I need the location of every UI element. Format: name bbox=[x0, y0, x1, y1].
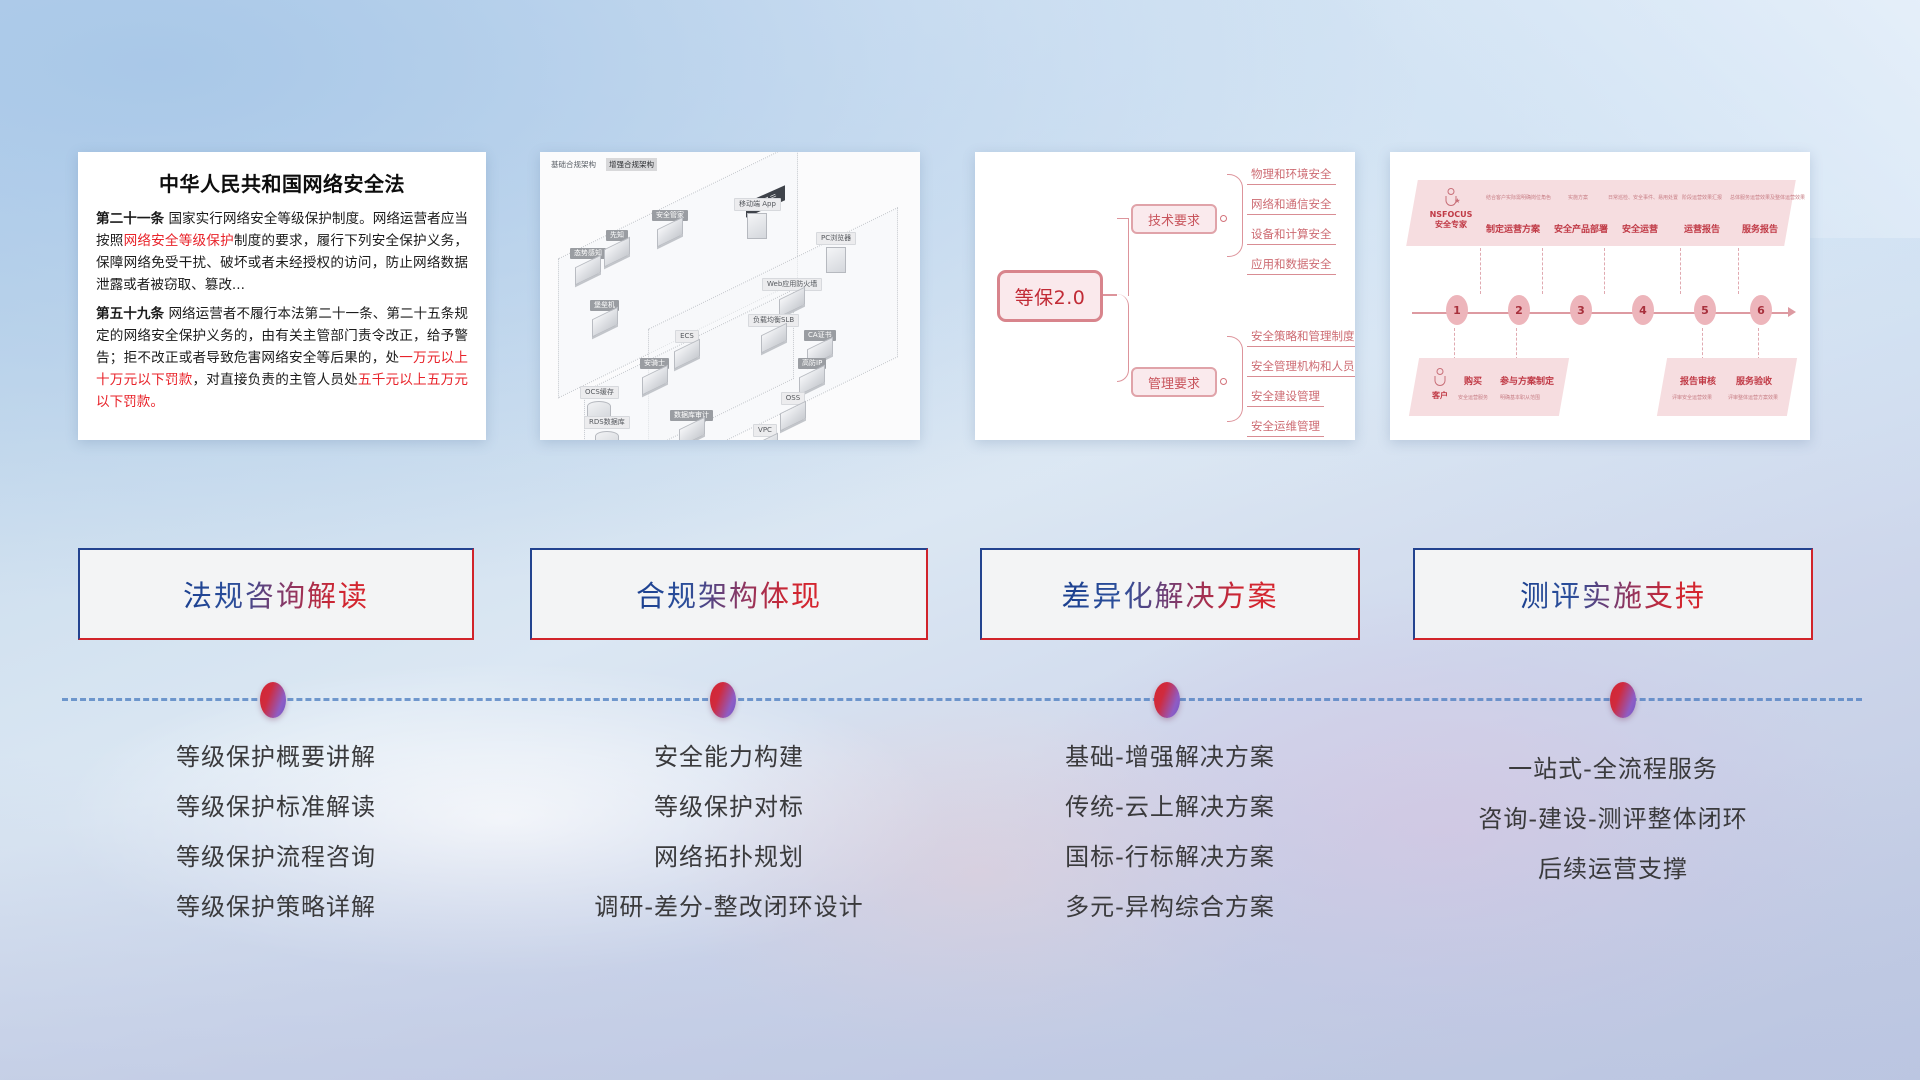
nsfocus-bottom2-caption: 明确基本职从范围 bbox=[1500, 394, 1540, 401]
node-label: RDS数据库 bbox=[584, 416, 630, 429]
nsfocus-bottom3-title: 报告审核 bbox=[1680, 374, 1716, 387]
mindmap-leaf-physical: 物理和环境安全 bbox=[1247, 166, 1336, 185]
list-item: 网络拓扑规划 bbox=[530, 845, 928, 869]
nsfocus-timeline-card: ★ NSFOCUS 安全专家 结合客户实际需明确岗位角色 制定运营方案 实施方案… bbox=[1390, 152, 1810, 440]
section-title-text-3: 差异化解决方案 bbox=[1061, 573, 1278, 615]
list-item: 等级保护流程咨询 bbox=[78, 845, 474, 869]
law-card-body: 中华人民共和国网络安全法 第二十一条 国家实行网络安全等级保护制度。网络运营者应… bbox=[78, 152, 486, 423]
nsfocus-expert-block: ★ NSFOCUS 安全专家 bbox=[1422, 188, 1480, 230]
nsfocus-diagram: ★ NSFOCUS 安全专家 结合客户实际需明确岗位角色 制定运营方案 实施方案… bbox=[1390, 152, 1810, 440]
architecture-card: 基础合规架构 增强合规架构 阿里云 态势感知 先知 bbox=[540, 152, 920, 440]
nsfocus-step4-title: 运营报告 bbox=[1684, 222, 1720, 235]
timeline-track bbox=[62, 698, 1862, 702]
mindmap-leaf-network: 网络和通信安全 bbox=[1247, 196, 1336, 215]
mindmap-root-stem bbox=[1103, 294, 1117, 296]
list-item: 咨询-建设-测评整体闭环 bbox=[1413, 807, 1813, 831]
person-body bbox=[1435, 376, 1446, 386]
server-icon bbox=[780, 401, 806, 432]
nsfocus-step3-title: 安全运营 bbox=[1622, 222, 1658, 235]
nsfocus-axis-node-1: 1 bbox=[1446, 295, 1468, 325]
architecture-canvas: 阿里云 态势感知 先知 安全管家 堡垒机 bbox=[548, 172, 912, 432]
nsfocus-axis-line bbox=[1412, 312, 1792, 314]
nsfocus-connector-1 bbox=[1480, 248, 1481, 294]
nsfocus-connector-4 bbox=[1680, 248, 1681, 294]
mindmap-branch-dot bbox=[1220, 215, 1227, 222]
list-item: 等级保护对标 bbox=[530, 795, 928, 819]
node-mobile-app: 移动端 App bbox=[734, 198, 781, 239]
device-icon bbox=[747, 213, 767, 239]
nsfocus-customer-role: 客户 bbox=[1422, 390, 1458, 401]
node-label: PC浏览器 bbox=[816, 232, 856, 245]
architecture-tabs: 基础合规架构 增强合规架构 bbox=[548, 158, 657, 171]
section-title-text-1: 法规咨询解读 bbox=[183, 573, 369, 615]
law-article-21-label: 第二十一条 bbox=[96, 211, 164, 227]
law-article-21: 第二十一条 国家实行网络安全等级保护制度。网络运营者应当按照网络安全等级保护制度… bbox=[96, 208, 468, 296]
nsfocus-expert-role: 安全专家 bbox=[1422, 220, 1480, 230]
nsfocus-axis-node-6: 6 bbox=[1750, 295, 1772, 325]
node-xianzhi: 先知 bbox=[604, 230, 630, 261]
nsfocus-customer-tray: 客户 购买 安全运营服务 参与方案制定 明确基本职从范围 bbox=[1409, 358, 1569, 416]
list-item: 安全能力构建 bbox=[530, 745, 928, 769]
nsfocus-bottom4-caption: 评审整体运营方案效果 bbox=[1728, 394, 1778, 401]
list-item: 国标-行标解决方案 bbox=[980, 845, 1360, 869]
nsfocus-review-tray: 报告审核 评审安全运营效果 服务验收 评审整体运营方案效果 bbox=[1657, 358, 1797, 416]
mindmap-connector-down bbox=[1117, 294, 1129, 382]
law-card-title: 中华人民共和国网络安全法 bbox=[96, 168, 468, 197]
section-title-box-3[interactable]: 差异化解决方案 bbox=[980, 548, 1360, 640]
nsfocus-bottom3-caption: 评审安全运营效果 bbox=[1672, 394, 1712, 401]
nsfocus-top-band: ★ NSFOCUS 安全专家 结合客户实际需明确岗位角色 制定运营方案 实施方案… bbox=[1406, 180, 1796, 246]
nsfocus-step1-caption: 结合客户实际需明确岗位角色 bbox=[1486, 194, 1551, 201]
list-item: 调研-差分-整改闭环设计 bbox=[530, 895, 928, 919]
list-item: 一站式-全流程服务 bbox=[1413, 757, 1813, 781]
nsfocus-connector-2 bbox=[1542, 248, 1543, 294]
node-anti-ddos-ip: 高防IP bbox=[798, 358, 826, 389]
section-title-text-2: 合规架构体现 bbox=[636, 573, 822, 615]
node-vpc: VPC bbox=[752, 424, 778, 440]
law-article-21-highlight: 网络安全等级保护 bbox=[124, 233, 234, 249]
section-title-box-1[interactable]: 法规咨询解读 bbox=[78, 548, 474, 640]
nsfocus-bottom1-title: 购买 bbox=[1464, 374, 1482, 387]
timeline-dashed-line bbox=[62, 698, 1862, 701]
expert-person-icon: ★ bbox=[1445, 188, 1458, 208]
mindmap-card: 等保2.0 技术要求 物理和环境安全 网络和通信安全 设备和计算安全 应用和数据… bbox=[975, 152, 1355, 440]
mindmap-leaf-build: 安全建设管理 bbox=[1247, 388, 1324, 407]
node-ca-certificate: CA证书 bbox=[804, 330, 836, 361]
mindmap-connector-up bbox=[1117, 218, 1129, 296]
nsfocus-step2-title: 安全产品部署 bbox=[1554, 222, 1608, 235]
node-rds-database: RDS数据库 bbox=[584, 416, 630, 440]
section-detail-columns: 等级保护概要讲解 等级保护标准解读 等级保护流程咨询 等级保护策略详解 安全能力… bbox=[0, 745, 1920, 975]
list-item: 基础-增强解决方案 bbox=[980, 745, 1360, 769]
node-bastion-host: 堡垒机 bbox=[590, 300, 619, 331]
person-head bbox=[1437, 368, 1444, 375]
nsfocus-connector-8 bbox=[1702, 328, 1703, 360]
mindmap-leaf-device: 设备和计算安全 bbox=[1247, 226, 1336, 245]
node-database-audit: 数据库审计 bbox=[670, 410, 713, 440]
customer-person-icon bbox=[1434, 368, 1447, 388]
timeline-marker-2[interactable] bbox=[710, 682, 736, 718]
nsfocus-step5-title: 服务报告 bbox=[1742, 222, 1778, 235]
mindmap-diagram: 等保2.0 技术要求 物理和环境安全 网络和通信安全 设备和计算安全 应用和数据… bbox=[975, 152, 1355, 440]
nsfocus-connector-9 bbox=[1758, 328, 1759, 360]
nsfocus-brand: NSFOCUS bbox=[1422, 210, 1480, 220]
law-article-59-label: 第五十九条 bbox=[96, 306, 164, 322]
nsfocus-review-tray-inner: 报告审核 评审安全运营效果 服务验收 评审整体运营方案效果 bbox=[1662, 358, 1792, 416]
section-title-box-4[interactable]: 测评实施支持 bbox=[1413, 548, 1813, 640]
node-label: Web应用防火墙 bbox=[762, 278, 822, 291]
timeline-marker-4[interactable] bbox=[1610, 682, 1636, 718]
mindmap-leaf-org: 安全管理机构和人员 bbox=[1247, 358, 1355, 377]
mindmap-leaf-policy: 安全策略和管理制度 bbox=[1247, 328, 1355, 347]
node-situational-awareness: 态势感知 bbox=[570, 248, 606, 279]
detail-column-2: 安全能力构建 等级保护对标 网络拓扑规划 调研-差分-整改闭环设计 bbox=[530, 745, 928, 945]
nsfocus-connector-5 bbox=[1738, 248, 1739, 294]
node-oss: OSS bbox=[780, 392, 806, 425]
list-item: 后续运营支撑 bbox=[1413, 857, 1813, 881]
nsfocus-step1-title: 制定运营方案 bbox=[1486, 222, 1540, 235]
list-item: 多元-异构综合方案 bbox=[980, 895, 1360, 919]
law-article-59-text-b: ，对直接负责的主管人员处 bbox=[193, 372, 358, 388]
nsfocus-top-band-inner: ★ NSFOCUS 安全专家 结合客户实际需明确岗位角色 制定运营方案 实施方案… bbox=[1412, 180, 1790, 246]
node-label: 移动端 App bbox=[734, 198, 781, 211]
mindmap-fan-technical bbox=[1227, 174, 1243, 257]
arrow-right-icon bbox=[1788, 307, 1796, 317]
mindmap-branch-management: 管理要求 bbox=[1131, 367, 1217, 397]
section-title-row: 法规咨询解读 合规架构体现 差异化解决方案 测评实施支持 bbox=[0, 548, 1920, 640]
node-ecs: ECS bbox=[674, 330, 700, 363]
mindmap-branch-technical: 技术要求 bbox=[1131, 204, 1217, 234]
nsfocus-customer-tray-inner: 客户 购买 安全运营服务 参与方案制定 明确基本职从范围 bbox=[1414, 358, 1564, 416]
node-label: OCS缓存 bbox=[580, 386, 619, 399]
node-slb: 负载均衡SLB bbox=[748, 314, 799, 347]
list-item: 等级保护策略详解 bbox=[78, 895, 474, 919]
tab-basic-architecture[interactable]: 基础合规架构 bbox=[548, 158, 599, 171]
detail-column-4: 一站式-全流程服务 咨询-建设-测评整体闭环 后续运营支撑 bbox=[1413, 745, 1813, 907]
nsfocus-axis-node-3: 3 bbox=[1570, 295, 1592, 325]
list-item: 等级保护概要讲解 bbox=[78, 745, 474, 769]
mindmap-leaf-application: 应用和数据安全 bbox=[1247, 256, 1336, 275]
detail-column-3: 基础-增强解决方案 传统-云上解决方案 国标-行标解决方案 多元-异构综合方案 bbox=[980, 745, 1360, 945]
mindmap-fan-management bbox=[1227, 336, 1243, 422]
node-waf: Web应用防火墙 bbox=[762, 278, 822, 311]
law-article-59: 第五十九条 网络运营者不履行本法第二十一条、第二十五条规定的网络安全保护义务的，… bbox=[96, 303, 468, 413]
mindmap-root-node: 等保2.0 bbox=[997, 270, 1103, 322]
nsfocus-axis-node-5: 5 bbox=[1694, 295, 1716, 325]
nsfocus-step2-caption: 实施方案 bbox=[1568, 194, 1588, 201]
tab-enhanced-architecture[interactable]: 增强合规架构 bbox=[606, 158, 657, 171]
mindmap-branch-dot bbox=[1220, 378, 1227, 385]
architecture-diagram: 基础合规架构 增强合规架构 阿里云 态势感知 先知 bbox=[540, 152, 920, 440]
nsfocus-connector-3 bbox=[1604, 248, 1605, 294]
node-anqishi: 安骑士 bbox=[640, 358, 669, 389]
nsfocus-step5-caption: 总体服务运营效果及整体运营效果 bbox=[1730, 194, 1805, 201]
law-card: 中华人民共和国网络安全法 第二十一条 国家实行网络安全等级保护制度。网络运营者应… bbox=[78, 152, 486, 440]
nsfocus-customer-block: 客户 bbox=[1422, 368, 1458, 401]
star-icon: ★ bbox=[1454, 197, 1460, 206]
nsfocus-bottom1-caption: 安全运营服务 bbox=[1458, 394, 1488, 401]
timeline-marker-1[interactable] bbox=[260, 682, 286, 718]
person-head bbox=[1448, 188, 1455, 195]
nsfocus-step4-caption: 阶段运营效果汇报 bbox=[1682, 194, 1722, 201]
database-icon bbox=[595, 431, 619, 440]
nsfocus-bottom4-title: 服务验收 bbox=[1736, 374, 1772, 387]
list-item: 等级保护标准解读 bbox=[78, 795, 474, 819]
nsfocus-axis-node-4: 4 bbox=[1632, 295, 1654, 325]
node-label: 负载均衡SLB bbox=[748, 314, 799, 327]
illustration-card-row: 中华人民共和国网络安全法 第二十一条 国家实行网络安全等级保护制度。网络运营者应… bbox=[0, 152, 1920, 442]
mindmap-leaf-ops: 安全运维管理 bbox=[1247, 418, 1324, 437]
timeline-marker-3[interactable] bbox=[1154, 682, 1180, 718]
node-security-steward: 安全管家 bbox=[652, 210, 688, 241]
nsfocus-connector-6 bbox=[1454, 328, 1455, 360]
device-icon bbox=[826, 247, 846, 273]
list-item: 传统-云上解决方案 bbox=[980, 795, 1360, 819]
nsfocus-axis-node-2: 2 bbox=[1508, 295, 1530, 325]
nsfocus-step3-caption: 日常巡检、安全事件、易用处置 bbox=[1608, 194, 1678, 201]
section-title-text-4: 测评实施支持 bbox=[1520, 573, 1706, 615]
detail-column-1: 等级保护概要讲解 等级保护标准解读 等级保护流程咨询 等级保护策略详解 bbox=[78, 745, 474, 945]
section-title-box-2[interactable]: 合规架构体现 bbox=[530, 548, 928, 640]
node-label: 数据库审计 bbox=[670, 410, 713, 421]
slide-stage: 中华人民共和国网络安全法 第二十一条 国家实行网络安全等级保护制度。网络运营者应… bbox=[0, 0, 1920, 1080]
node-pc-browser: PC浏览器 bbox=[816, 232, 856, 273]
nsfocus-bottom2-title: 参与方案制定 bbox=[1500, 374, 1554, 387]
nsfocus-connector-7 bbox=[1516, 328, 1517, 360]
